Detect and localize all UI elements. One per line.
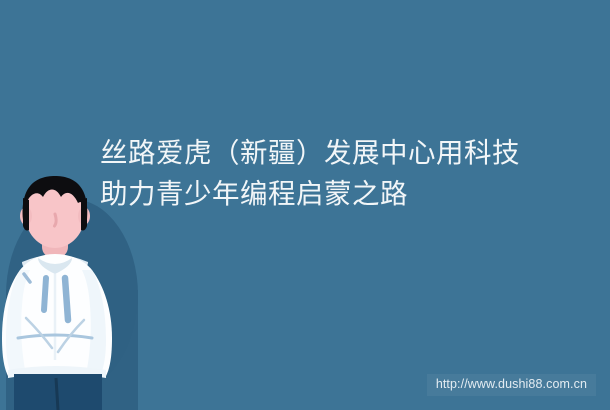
page-title: 丝路爱虎（新疆）发展中心用科技 助力青少年编程启蒙之路	[100, 132, 570, 214]
headline-line-1: 丝路爱虎（新疆）发展中心用科技	[100, 132, 570, 173]
promo-banner: 丝路爱虎（新疆）发展中心用科技 助力青少年编程启蒙之路 http://www.d…	[0, 0, 610, 410]
pants	[14, 374, 102, 410]
headline-line-2: 助力青少年编程启蒙之路	[100, 173, 570, 214]
watermark-url: http://www.dushi88.com.cn	[427, 374, 596, 396]
